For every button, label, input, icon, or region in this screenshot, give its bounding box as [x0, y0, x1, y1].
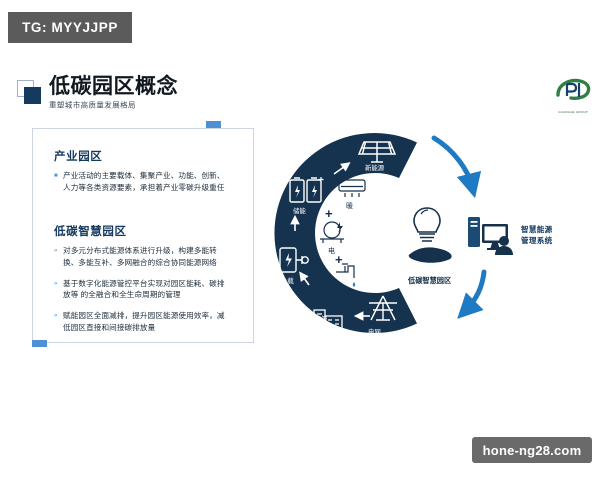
- bullet-marker-icon: »: [54, 282, 59, 287]
- system-node-label-line1: 智慧能源: [521, 224, 553, 235]
- bullet-text: 产业活动的主要载体、集聚产业、功能、创新、人力等各类资源要素，承担着产业零碳升级…: [63, 170, 231, 194]
- ring-node-label: 建筑: [315, 314, 328, 323]
- page-subtitle: 重塑城市高质量发展格局: [49, 100, 178, 110]
- bullet-marker-icon: ■: [54, 174, 59, 179]
- site-watermark: hone-ng28.com: [472, 437, 592, 463]
- arrow-down-right-icon: [434, 138, 472, 186]
- accent-dash-bottom-left: [32, 340, 47, 347]
- inner-node-label: 电: [328, 246, 335, 255]
- page-title: 低碳园区概念: [49, 76, 178, 98]
- section-heading: 低碳智慧园区: [54, 223, 231, 239]
- section-low-carbon-park: 低碳智慧园区 » 对多元分布式能源体系进行升级，构建多能转换、多能互补、多网融合…: [54, 223, 231, 341]
- system-node-label-line2: 管理系统: [521, 235, 553, 246]
- bullet-item: » 基于数字化能源管控平台实现对园区能耗、碳排放等 的全融合和全生命周期的管理: [54, 278, 231, 302]
- bullet-item: » 对多元分布式能源体系进行升级，构建多能转换、多能互补、多网融合的综合协同能源…: [54, 245, 231, 269]
- bullet-text: 对多元分布式能源体系进行升级，构建多能转换、多能互补、多网融合的综合协同能源网络: [63, 245, 231, 269]
- page-title-block: 低碳园区概念 重塑城市高质量发展格局: [17, 76, 178, 111]
- brand-logo-caption: GUANGHE GROUP: [554, 110, 592, 114]
- slide-canvas: TG: MYYJJPP 低碳园区概念 重塑城市高质量发展格局 GUANGHE G…: [0, 0, 600, 480]
- bullet-text: 赋能园区全面减排，提升园区能源使用效率，减低园区直接和间接碳排放量: [63, 310, 231, 334]
- bullet-marker-icon: »: [54, 314, 59, 319]
- bullet-item: » 赋能园区全面减排，提升园区能源使用效率，减低园区直接和间接碳排放量: [54, 310, 231, 334]
- system-node-label: 智慧能源 管理系统: [521, 224, 553, 246]
- ring-node-label: 电网: [368, 327, 381, 336]
- ring-node-label: 新能源: [365, 163, 385, 172]
- frame-rule-bottom: [47, 343, 217, 344]
- square-mark-icon: [17, 80, 43, 106]
- frame-rule-top: [40, 124, 206, 125]
- ring-node-label: 储能: [293, 206, 306, 215]
- section-heading: 产业园区: [54, 148, 231, 164]
- inner-node-label: 水: [344, 288, 351, 297]
- arrow-down-left-icon: [466, 272, 484, 310]
- bullet-item: ■ 产业活动的主要载体、集聚产业、功能、创新、人力等各类资源要素，承担着产业零碳…: [54, 170, 231, 194]
- tg-badge-label: TG: MYYJJPP: [22, 20, 118, 35]
- smart-energy-system-node: 智慧能源 管理系统: [466, 212, 586, 258]
- tg-watermark-badge: TG: MYYJJPP: [8, 12, 132, 43]
- watermark-text: hone-ng28.com: [483, 443, 582, 458]
- inner-node-label: 暖: [346, 202, 353, 210]
- accent-dash-top-right: [206, 121, 221, 128]
- ring-inner-disc: [319, 175, 435, 291]
- bullet-marker-icon: »: [54, 249, 59, 254]
- plus-sign: +: [325, 206, 333, 221]
- ring-node-label: 负载: [281, 276, 294, 285]
- brand-logo-icon: GUANGHE GROUP: [554, 78, 592, 112]
- computer-user-icon: [466, 214, 518, 256]
- bullet-text: 基于数字化能源管控平台实现对园区能耗、碳排放等 的全融合和全生命周期的管理: [63, 278, 231, 302]
- section-industrial-park: 产业园区 ■ 产业活动的主要载体、集聚产业、功能、创新、人力等各类资源要素，承担…: [54, 148, 231, 201]
- plus-sign: +: [335, 252, 343, 267]
